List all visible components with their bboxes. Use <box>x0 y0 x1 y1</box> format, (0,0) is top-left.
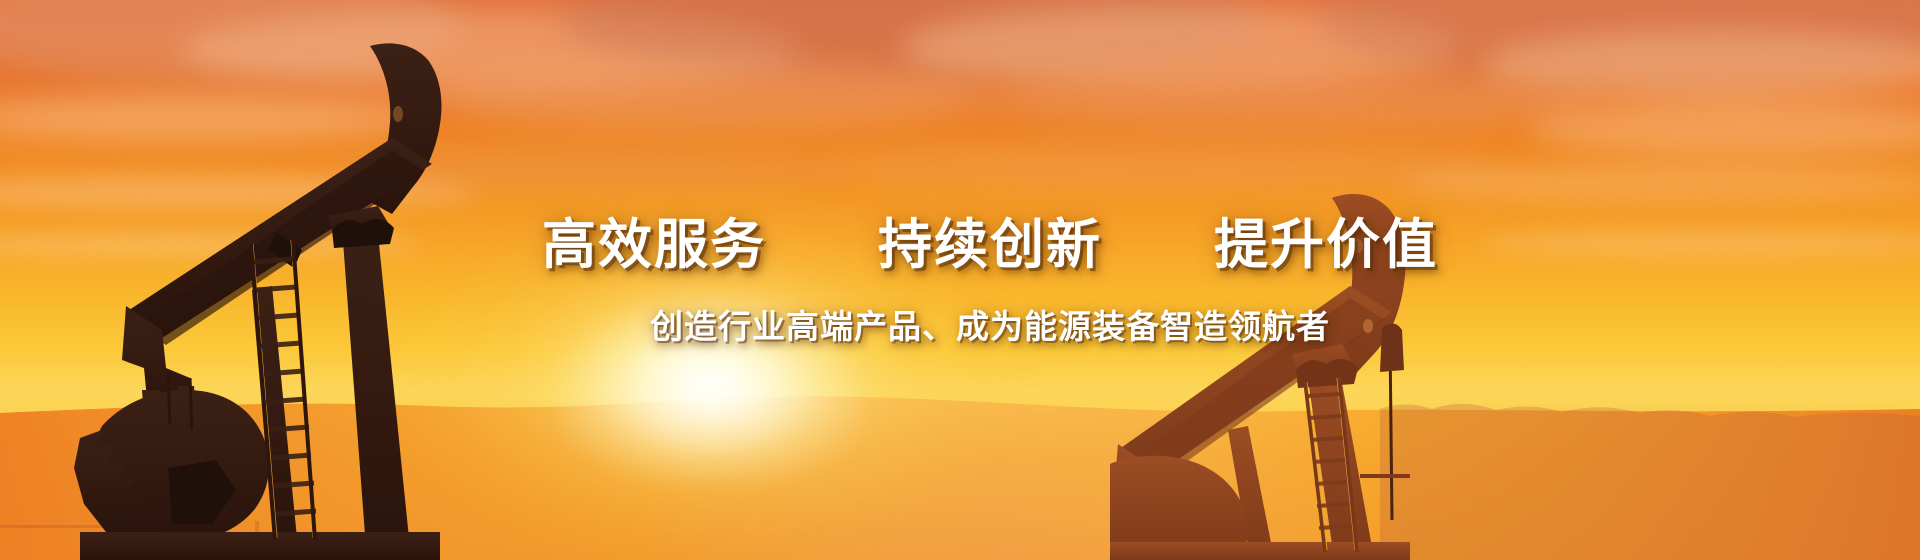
hero-banner: 高效服务 持续创新 提升价值 创造行业高端产品、成为能源装备智造领航者 <box>0 0 1920 560</box>
banner-subheadline: 创造行业高端产品、成为能源装备智造领航者 <box>650 310 1330 343</box>
banner-text-block: 高效服务 持续创新 提升价值 创造行业高端产品、成为能源装备智造领航者 <box>0 0 1920 560</box>
banner-headline: 高效服务 持续创新 提升价值 <box>542 218 1438 272</box>
